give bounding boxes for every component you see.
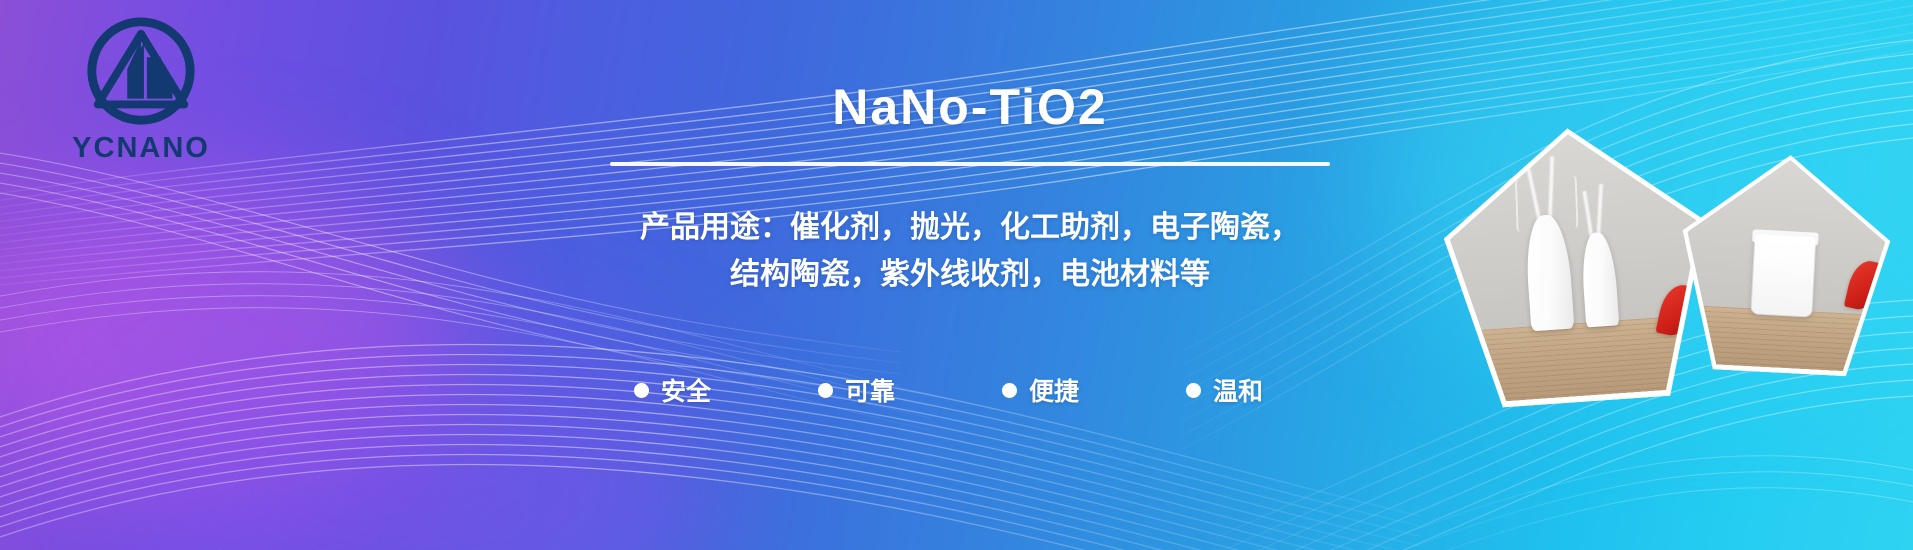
feature-label: 可靠 — [845, 372, 895, 408]
feature-item-convenient: 便捷 — [1002, 372, 1122, 408]
feature-item-mild: 温和 — [1186, 372, 1306, 408]
dot-icon — [634, 383, 649, 398]
brand-wordmark: YCNANO — [46, 134, 236, 163]
background-glow-magenta — [0, 190, 460, 490]
banner-content: NaNo-TiO2 产品用途：催化剂，抛光，化工助剂，电子陶瓷， 结构陶瓷，紫外… — [470, 0, 1470, 550]
dot-icon — [1186, 383, 1201, 398]
product-usage-text: 产品用途：催化剂，抛光，化工助剂，电子陶瓷， 结构陶瓷，紫外线收剂，电池材料等 — [470, 205, 1470, 298]
product-banner: YCNANO NaNo-TiO2 产品用途：催化剂，抛光，化工助剂，电子陶瓷， … — [0, 0, 1913, 550]
feature-item-reliable: 可靠 — [818, 372, 938, 408]
product-title: NaNo-TiO2 — [470, 78, 1470, 136]
dot-icon — [818, 383, 833, 398]
white-vases-photo — [1443, 126, 1711, 405]
feature-list: 安全 可靠 便捷 温和 — [520, 372, 1420, 408]
beaker-photo — [1681, 155, 1890, 373]
usage-line-1: 产品用途：催化剂，抛光，化工助剂，电子陶瓷， — [470, 205, 1470, 252]
usage-line-2: 结构陶瓷，紫外线收剂，电池材料等 — [470, 252, 1470, 299]
feature-item-safe: 安全 — [634, 372, 754, 408]
title-divider — [610, 162, 1330, 166]
feature-label: 安全 — [661, 372, 711, 408]
feature-label: 温和 — [1213, 372, 1263, 408]
brand-logo[interactable]: YCNANO — [46, 14, 236, 163]
dot-icon — [1002, 383, 1017, 398]
feature-label: 便捷 — [1029, 372, 1079, 408]
ycnano-triangle-circle-logo-icon — [82, 14, 200, 132]
